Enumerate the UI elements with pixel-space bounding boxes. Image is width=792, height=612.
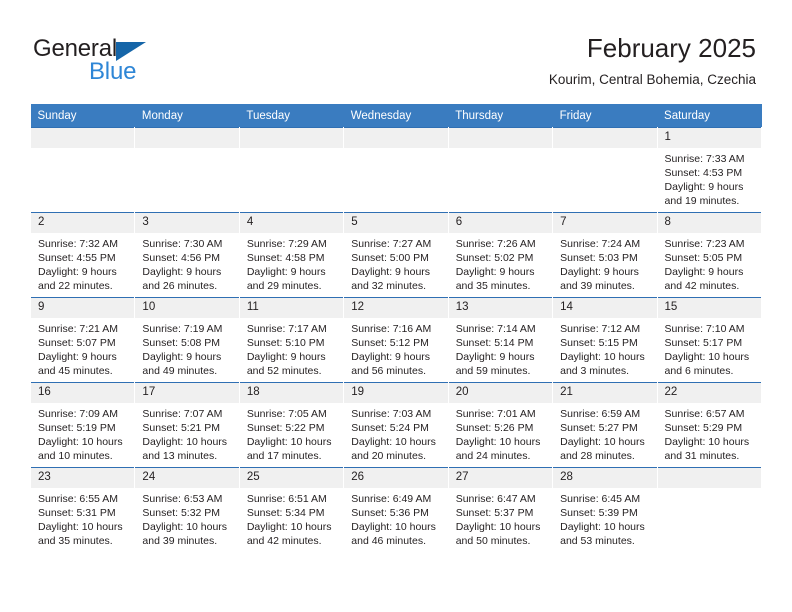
- calendar-day-cell[interactable]: 17Sunrise: 7:07 AMSunset: 5:21 PMDayligh…: [135, 383, 239, 468]
- daylight-text-line1: Daylight: 9 hours: [351, 350, 442, 364]
- day-number: 27: [449, 468, 552, 488]
- calendar-day-cell[interactable]: 18Sunrise: 7:05 AMSunset: 5:22 PMDayligh…: [239, 383, 343, 468]
- sunset-text: Sunset: 5:37 PM: [456, 506, 547, 520]
- calendar-day-cell[interactable]: 16Sunrise: 7:09 AMSunset: 5:19 PMDayligh…: [31, 383, 135, 468]
- day-details: Sunrise: 6:55 AMSunset: 5:31 PMDaylight:…: [31, 488, 134, 548]
- day-details: Sunrise: 7:03 AMSunset: 5:24 PMDaylight:…: [344, 403, 447, 463]
- day-details: Sunrise: 7:33 AMSunset: 4:53 PMDaylight:…: [658, 148, 761, 208]
- calendar-day-cell[interactable]: 14Sunrise: 7:12 AMSunset: 5:15 PMDayligh…: [553, 298, 657, 383]
- day-number: 25: [240, 468, 343, 488]
- day-details: Sunrise: 7:01 AMSunset: 5:26 PMDaylight:…: [449, 403, 552, 463]
- day-number: 7: [553, 213, 656, 233]
- daylight-text-line2: and 29 minutes.: [247, 279, 338, 293]
- sunrise-text: Sunrise: 7:24 AM: [560, 237, 651, 251]
- sunrise-text: Sunrise: 7:10 AM: [665, 322, 756, 336]
- calendar-day-cell[interactable]: 13Sunrise: 7:14 AMSunset: 5:14 PMDayligh…: [448, 298, 552, 383]
- sunrise-text: Sunrise: 6:51 AM: [247, 492, 338, 506]
- calendar-cell-empty: [239, 128, 343, 213]
- daylight-text-line1: Daylight: 10 hours: [560, 435, 651, 449]
- calendar-cell-empty: [553, 128, 657, 213]
- title-block: February 2025 Kourim, Central Bohemia, C…: [276, 32, 756, 88]
- daylight-text-line1: Daylight: 10 hours: [351, 520, 442, 534]
- daylight-text-line2: and 20 minutes.: [351, 449, 442, 463]
- weekday-header-row: Sunday Monday Tuesday Wednesday Thursday…: [31, 104, 762, 128]
- sunrise-text: Sunrise: 7:30 AM: [142, 237, 233, 251]
- daylight-text-line1: Daylight: 10 hours: [456, 520, 547, 534]
- sunset-text: Sunset: 5:31 PM: [38, 506, 129, 520]
- day-details: Sunrise: 7:14 AMSunset: 5:14 PMDaylight:…: [449, 318, 552, 378]
- day-details: Sunrise: 7:07 AMSunset: 5:21 PMDaylight:…: [135, 403, 238, 463]
- general-blue-logo[interactable]: General Blue: [33, 36, 213, 88]
- daylight-text-line1: Daylight: 9 hours: [38, 265, 129, 279]
- day-number: 6: [449, 213, 552, 233]
- sunset-text: Sunset: 5:32 PM: [142, 506, 233, 520]
- calendar-day-cell[interactable]: 23Sunrise: 6:55 AMSunset: 5:31 PMDayligh…: [31, 468, 135, 553]
- sunset-text: Sunset: 5:12 PM: [351, 336, 442, 350]
- calendar-day-cell[interactable]: 6Sunrise: 7:26 AMSunset: 5:02 PMDaylight…: [448, 213, 552, 298]
- sunset-text: Sunset: 5:19 PM: [38, 421, 129, 435]
- sunset-text: Sunset: 5:15 PM: [560, 336, 651, 350]
- daylight-text-line1: Daylight: 9 hours: [665, 180, 756, 194]
- calendar-week-row: 23Sunrise: 6:55 AMSunset: 5:31 PMDayligh…: [31, 468, 762, 553]
- daylight-text-line2: and 42 minutes.: [665, 279, 756, 293]
- day-number: 22: [658, 383, 761, 403]
- day-number: [31, 128, 134, 148]
- daylight-text-line2: and 45 minutes.: [38, 364, 129, 378]
- day-details: Sunrise: 6:53 AMSunset: 5:32 PMDaylight:…: [135, 488, 238, 548]
- day-number: 16: [31, 383, 134, 403]
- sunset-text: Sunset: 5:02 PM: [456, 251, 547, 265]
- sunset-text: Sunset: 4:53 PM: [665, 166, 756, 180]
- daylight-text-line2: and 39 minutes.: [142, 534, 233, 548]
- sunset-text: Sunset: 5:07 PM: [38, 336, 129, 350]
- page-header: General Blue February 2025 Kourim, Centr…: [0, 0, 792, 100]
- sunset-text: Sunset: 5:34 PM: [247, 506, 338, 520]
- sunset-text: Sunset: 5:00 PM: [351, 251, 442, 265]
- daylight-text-line2: and 52 minutes.: [247, 364, 338, 378]
- day-number: 21: [553, 383, 656, 403]
- daylight-text-line1: Daylight: 10 hours: [456, 435, 547, 449]
- daylight-text-line1: Daylight: 9 hours: [560, 265, 651, 279]
- sunrise-text: Sunrise: 7:23 AM: [665, 237, 756, 251]
- calendar-day-cell[interactable]: 26Sunrise: 6:49 AMSunset: 5:36 PMDayligh…: [344, 468, 448, 553]
- day-details: Sunrise: 7:23 AMSunset: 5:05 PMDaylight:…: [658, 233, 761, 293]
- calendar-day-cell[interactable]: 2Sunrise: 7:32 AMSunset: 4:55 PMDaylight…: [31, 213, 135, 298]
- daylight-text-line1: Daylight: 10 hours: [247, 435, 338, 449]
- sunrise-text: Sunrise: 7:17 AM: [247, 322, 338, 336]
- sunrise-text: Sunrise: 6:47 AM: [456, 492, 547, 506]
- day-number: 4: [240, 213, 343, 233]
- day-number: 3: [135, 213, 238, 233]
- daylight-text-line2: and 6 minutes.: [665, 364, 756, 378]
- day-details: Sunrise: 7:27 AMSunset: 5:00 PMDaylight:…: [344, 233, 447, 293]
- weekday-header-wednesday: Wednesday: [344, 104, 448, 128]
- sunset-text: Sunset: 4:55 PM: [38, 251, 129, 265]
- calendar-day-cell[interactable]: 4Sunrise: 7:29 AMSunset: 4:58 PMDaylight…: [239, 213, 343, 298]
- page-title: February 2025: [276, 32, 756, 64]
- calendar-day-cell[interactable]: 9Sunrise: 7:21 AMSunset: 5:07 PMDaylight…: [31, 298, 135, 383]
- day-details: Sunrise: 7:12 AMSunset: 5:15 PMDaylight:…: [553, 318, 656, 378]
- daylight-text-line1: Daylight: 9 hours: [247, 350, 338, 364]
- day-number: [449, 128, 552, 148]
- day-details: Sunrise: 6:47 AMSunset: 5:37 PMDaylight:…: [449, 488, 552, 548]
- day-details: Sunrise: 7:10 AMSunset: 5:17 PMDaylight:…: [658, 318, 761, 378]
- daylight-text-line2: and 19 minutes.: [665, 194, 756, 208]
- logo-text-blue: Blue: [89, 59, 136, 85]
- calendar-cell-empty: [657, 468, 761, 553]
- calendar-day-cell[interactable]: 10Sunrise: 7:19 AMSunset: 5:08 PMDayligh…: [135, 298, 239, 383]
- weekday-header-saturday: Saturday: [657, 104, 761, 128]
- daylight-text-line2: and 26 minutes.: [142, 279, 233, 293]
- sunrise-text: Sunrise: 6:57 AM: [665, 407, 756, 421]
- sunrise-text: Sunrise: 7:09 AM: [38, 407, 129, 421]
- day-number: 5: [344, 213, 447, 233]
- daylight-text-line1: Daylight: 9 hours: [142, 350, 233, 364]
- calendar-grid: Sunday Monday Tuesday Wednesday Thursday…: [30, 104, 762, 552]
- day-details: Sunrise: 7:16 AMSunset: 5:12 PMDaylight:…: [344, 318, 447, 378]
- sunrise-text: Sunrise: 7:07 AM: [142, 407, 233, 421]
- day-number: 17: [135, 383, 238, 403]
- daylight-text-line2: and 56 minutes.: [351, 364, 442, 378]
- weekday-header-tuesday: Tuesday: [239, 104, 343, 128]
- day-number: [658, 468, 761, 488]
- calendar-cell-empty: [448, 128, 552, 213]
- calendar-week-row: 1Sunrise: 7:33 AMSunset: 4:53 PMDaylight…: [31, 128, 762, 213]
- day-number: 26: [344, 468, 447, 488]
- sunrise-text: Sunrise: 7:33 AM: [665, 152, 756, 166]
- daylight-text-line1: Daylight: 9 hours: [142, 265, 233, 279]
- sunrise-text: Sunrise: 7:32 AM: [38, 237, 129, 251]
- sunset-text: Sunset: 5:26 PM: [456, 421, 547, 435]
- daylight-text-line1: Daylight: 9 hours: [665, 265, 756, 279]
- sunrise-text: Sunrise: 7:03 AM: [351, 407, 442, 421]
- sunset-text: Sunset: 5:39 PM: [560, 506, 651, 520]
- daylight-text-line2: and 31 minutes.: [665, 449, 756, 463]
- day-number: 20: [449, 383, 552, 403]
- day-details: Sunrise: 7:19 AMSunset: 5:08 PMDaylight:…: [135, 318, 238, 378]
- sunrise-text: Sunrise: 7:27 AM: [351, 237, 442, 251]
- calendar-day-cell[interactable]: 7Sunrise: 7:24 AMSunset: 5:03 PMDaylight…: [553, 213, 657, 298]
- day-number: [344, 128, 447, 148]
- sunset-text: Sunset: 5:10 PM: [247, 336, 338, 350]
- sunset-text: Sunset: 5:03 PM: [560, 251, 651, 265]
- day-details: Sunrise: 7:30 AMSunset: 4:56 PMDaylight:…: [135, 233, 238, 293]
- day-details: Sunrise: 7:05 AMSunset: 5:22 PMDaylight:…: [240, 403, 343, 463]
- sunset-text: Sunset: 4:58 PM: [247, 251, 338, 265]
- daylight-text-line1: Daylight: 9 hours: [456, 265, 547, 279]
- sunset-text: Sunset: 5:29 PM: [665, 421, 756, 435]
- calendar-day-cell[interactable]: 28Sunrise: 6:45 AMSunset: 5:39 PMDayligh…: [553, 468, 657, 553]
- day-details: Sunrise: 6:57 AMSunset: 5:29 PMDaylight:…: [658, 403, 761, 463]
- calendar-week-row: 16Sunrise: 7:09 AMSunset: 5:19 PMDayligh…: [31, 383, 762, 468]
- day-number: [240, 128, 343, 148]
- sunset-text: Sunset: 4:56 PM: [142, 251, 233, 265]
- sunset-text: Sunset: 5:17 PM: [665, 336, 756, 350]
- daylight-text-line2: and 28 minutes.: [560, 449, 651, 463]
- calendar-day-cell[interactable]: 11Sunrise: 7:17 AMSunset: 5:10 PMDayligh…: [239, 298, 343, 383]
- calendar-day-cell[interactable]: 12Sunrise: 7:16 AMSunset: 5:12 PMDayligh…: [344, 298, 448, 383]
- daylight-text-line1: Daylight: 10 hours: [560, 350, 651, 364]
- calendar-cell-empty: [344, 128, 448, 213]
- day-number: 11: [240, 298, 343, 318]
- day-number: 15: [658, 298, 761, 318]
- sunrise-text: Sunrise: 6:53 AM: [142, 492, 233, 506]
- daylight-text-line2: and 49 minutes.: [142, 364, 233, 378]
- sunrise-text: Sunrise: 7:16 AM: [351, 322, 442, 336]
- daylight-text-line2: and 35 minutes.: [38, 534, 129, 548]
- calendar-day-cell[interactable]: 15Sunrise: 7:10 AMSunset: 5:17 PMDayligh…: [657, 298, 761, 383]
- daylight-text-line2: and 10 minutes.: [38, 449, 129, 463]
- day-number: [553, 128, 656, 148]
- calendar-day-cell[interactable]: 19Sunrise: 7:03 AMSunset: 5:24 PMDayligh…: [344, 383, 448, 468]
- sunrise-text: Sunrise: 7:29 AM: [247, 237, 338, 251]
- sunrise-text: Sunrise: 6:49 AM: [351, 492, 442, 506]
- daylight-text-line1: Daylight: 9 hours: [38, 350, 129, 364]
- day-details: Sunrise: 6:45 AMSunset: 5:39 PMDaylight:…: [553, 488, 656, 548]
- sunset-text: Sunset: 5:21 PM: [142, 421, 233, 435]
- sunset-text: Sunset: 5:08 PM: [142, 336, 233, 350]
- daylight-text-line1: Daylight: 10 hours: [665, 350, 756, 364]
- daylight-text-line1: Daylight: 10 hours: [665, 435, 756, 449]
- daylight-text-line2: and 53 minutes.: [560, 534, 651, 548]
- day-number: 14: [553, 298, 656, 318]
- day-details: Sunrise: 7:09 AMSunset: 5:19 PMDaylight:…: [31, 403, 134, 463]
- sunset-text: Sunset: 5:05 PM: [665, 251, 756, 265]
- calendar-week-row: 9Sunrise: 7:21 AMSunset: 5:07 PMDaylight…: [31, 298, 762, 383]
- day-details: Sunrise: 6:59 AMSunset: 5:27 PMDaylight:…: [553, 403, 656, 463]
- daylight-text-line2: and 50 minutes.: [456, 534, 547, 548]
- day-number: 10: [135, 298, 238, 318]
- calendar-day-cell[interactable]: 22Sunrise: 6:57 AMSunset: 5:29 PMDayligh…: [657, 383, 761, 468]
- weekday-header-thursday: Thursday: [448, 104, 552, 128]
- sunrise-text: Sunrise: 7:21 AM: [38, 322, 129, 336]
- calendar-week-row: 2Sunrise: 7:32 AMSunset: 4:55 PMDaylight…: [31, 213, 762, 298]
- daylight-text-line2: and 22 minutes.: [38, 279, 129, 293]
- sunrise-text: Sunrise: 6:55 AM: [38, 492, 129, 506]
- calendar-page: General Blue February 2025 Kourim, Centr…: [0, 0, 792, 612]
- sunrise-text: Sunrise: 6:59 AM: [560, 407, 651, 421]
- calendar-day-cell[interactable]: 24Sunrise: 6:53 AMSunset: 5:32 PMDayligh…: [135, 468, 239, 553]
- calendar-cell-empty: [31, 128, 135, 213]
- day-details: Sunrise: 6:49 AMSunset: 5:36 PMDaylight:…: [344, 488, 447, 548]
- page-subtitle: Kourim, Central Bohemia, Czechia: [276, 71, 756, 88]
- calendar-cell-empty: [135, 128, 239, 213]
- day-number: 18: [240, 383, 343, 403]
- daylight-text-line2: and 13 minutes.: [142, 449, 233, 463]
- day-number: 2: [31, 213, 134, 233]
- calendar-day-cell[interactable]: 3Sunrise: 7:30 AMSunset: 4:56 PMDaylight…: [135, 213, 239, 298]
- weekday-header-monday: Monday: [135, 104, 239, 128]
- day-number: 13: [449, 298, 552, 318]
- calendar-day-cell[interactable]: 5Sunrise: 7:27 AMSunset: 5:00 PMDaylight…: [344, 213, 448, 298]
- day-number: 9: [31, 298, 134, 318]
- day-number: 12: [344, 298, 447, 318]
- sunrise-text: Sunrise: 7:19 AM: [142, 322, 233, 336]
- day-details: Sunrise: 7:21 AMSunset: 5:07 PMDaylight:…: [31, 318, 134, 378]
- sunset-text: Sunset: 5:36 PM: [351, 506, 442, 520]
- daylight-text-line1: Daylight: 9 hours: [456, 350, 547, 364]
- day-details: Sunrise: 7:24 AMSunset: 5:03 PMDaylight:…: [553, 233, 656, 293]
- day-details: Sunrise: 7:17 AMSunset: 5:10 PMDaylight:…: [240, 318, 343, 378]
- day-number: 19: [344, 383, 447, 403]
- sunset-text: Sunset: 5:22 PM: [247, 421, 338, 435]
- sunrise-text: Sunrise: 7:12 AM: [560, 322, 651, 336]
- calendar-day-cell[interactable]: 27Sunrise: 6:47 AMSunset: 5:37 PMDayligh…: [448, 468, 552, 553]
- sunset-text: Sunset: 5:24 PM: [351, 421, 442, 435]
- day-details: Sunrise: 7:32 AMSunset: 4:55 PMDaylight:…: [31, 233, 134, 293]
- daylight-text-line1: Daylight: 9 hours: [247, 265, 338, 279]
- sunrise-text: Sunrise: 7:01 AM: [456, 407, 547, 421]
- calendar-day-cell[interactable]: 8Sunrise: 7:23 AMSunset: 5:05 PMDaylight…: [657, 213, 761, 298]
- daylight-text-line1: Daylight: 10 hours: [142, 520, 233, 534]
- daylight-text-line2: and 17 minutes.: [247, 449, 338, 463]
- day-details: Sunrise: 6:51 AMSunset: 5:34 PMDaylight:…: [240, 488, 343, 548]
- day-details: Sunrise: 7:26 AMSunset: 5:02 PMDaylight:…: [449, 233, 552, 293]
- day-number: 8: [658, 213, 761, 233]
- daylight-text-line2: and 42 minutes.: [247, 534, 338, 548]
- day-number: 28: [553, 468, 656, 488]
- daylight-text-line2: and 24 minutes.: [456, 449, 547, 463]
- sunrise-text: Sunrise: 7:14 AM: [456, 322, 547, 336]
- day-number: [135, 128, 238, 148]
- daylight-text-line1: Daylight: 10 hours: [38, 435, 129, 449]
- daylight-text-line1: Daylight: 10 hours: [142, 435, 233, 449]
- daylight-text-line2: and 39 minutes.: [560, 279, 651, 293]
- daylight-text-line2: and 35 minutes.: [456, 279, 547, 293]
- sunset-text: Sunset: 5:14 PM: [456, 336, 547, 350]
- day-number: 24: [135, 468, 238, 488]
- calendar-day-cell[interactable]: 1Sunrise: 7:33 AMSunset: 4:53 PMDaylight…: [657, 128, 761, 213]
- daylight-text-line2: and 32 minutes.: [351, 279, 442, 293]
- calendar-day-cell[interactable]: 25Sunrise: 6:51 AMSunset: 5:34 PMDayligh…: [239, 468, 343, 553]
- daylight-text-line1: Daylight: 10 hours: [247, 520, 338, 534]
- calendar-day-cell[interactable]: 21Sunrise: 6:59 AMSunset: 5:27 PMDayligh…: [553, 383, 657, 468]
- daylight-text-line1: Daylight: 9 hours: [351, 265, 442, 279]
- daylight-text-line2: and 46 minutes.: [351, 534, 442, 548]
- sunrise-text: Sunrise: 7:26 AM: [456, 237, 547, 251]
- weekday-header-friday: Friday: [553, 104, 657, 128]
- daylight-text-line2: and 59 minutes.: [456, 364, 547, 378]
- day-number: 23: [31, 468, 134, 488]
- sunset-text: Sunset: 5:27 PM: [560, 421, 651, 435]
- day-details: Sunrise: 7:29 AMSunset: 4:58 PMDaylight:…: [240, 233, 343, 293]
- daylight-text-line1: Daylight: 10 hours: [560, 520, 651, 534]
- calendar-day-cell[interactable]: 20Sunrise: 7:01 AMSunset: 5:26 PMDayligh…: [448, 383, 552, 468]
- daylight-text-line1: Daylight: 10 hours: [351, 435, 442, 449]
- sunrise-text: Sunrise: 6:45 AM: [560, 492, 651, 506]
- day-number: 1: [658, 128, 761, 148]
- calendar-body: 1Sunrise: 7:33 AMSunset: 4:53 PMDaylight…: [31, 128, 762, 553]
- sunrise-text: Sunrise: 7:05 AM: [247, 407, 338, 421]
- daylight-text-line1: Daylight: 10 hours: [38, 520, 129, 534]
- weekday-header-sunday: Sunday: [31, 104, 135, 128]
- daylight-text-line2: and 3 minutes.: [560, 364, 651, 378]
